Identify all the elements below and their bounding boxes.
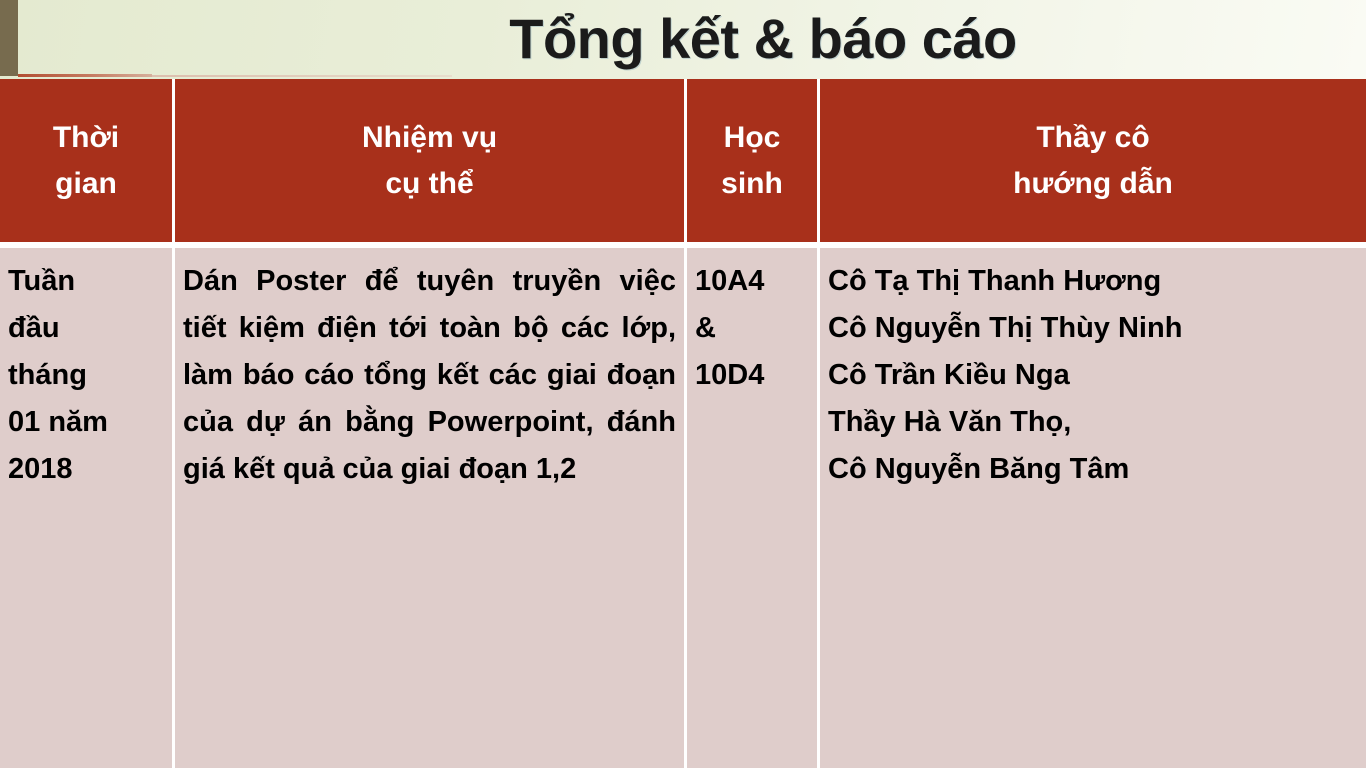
title-band: Tổng kết & báo cáo xyxy=(0,0,1366,79)
column-header-time: Thời gian xyxy=(0,79,175,242)
students-line-3: 10D4 xyxy=(695,352,809,399)
column-header-teachers-line2: hướng dẫn xyxy=(1013,161,1173,207)
teacher-name-5: Cô Nguyễn Băng Tâm xyxy=(828,446,1358,493)
column-header-task: Nhiệm vụ cụ thể xyxy=(175,79,687,242)
column-header-task-line1: Nhiệm vụ xyxy=(362,115,497,161)
teacher-name-1: Cô Tạ Thị Thanh Hương xyxy=(828,258,1358,305)
column-header-task-line2: cụ thể xyxy=(385,161,473,207)
column-header-students: Học sinh xyxy=(687,79,820,242)
column-header-time-line2: gian xyxy=(55,161,117,207)
table-header-row: Thời gian Nhiệm vụ cụ thể Học sinh Thầy … xyxy=(0,79,1366,242)
column-header-teachers: Thầy cô hướng dẫn xyxy=(820,79,1366,242)
time-line-3: tháng xyxy=(8,352,164,399)
time-line-4: 01 năm xyxy=(8,399,164,446)
slide: Tổng kết & báo cáo Thời gian Nhiệm vụ cụ… xyxy=(0,0,1366,768)
table-row: Tuần đầu tháng 01 năm 2018 Dán Poster để… xyxy=(0,242,1366,768)
column-header-students-line2: sinh xyxy=(721,161,783,207)
page-title: Tổng kết & báo cáo xyxy=(0,0,1366,76)
cell-time: Tuần đầu tháng 01 năm 2018 xyxy=(0,242,175,768)
cell-teachers: Cô Tạ Thị Thanh Hương Cô Nguyễn Thị Thùy… xyxy=(820,242,1366,768)
column-header-students-line1: Học xyxy=(724,115,781,161)
teacher-name-4: Thầy Hà Văn Thọ, xyxy=(828,399,1358,446)
time-line-5: 2018 xyxy=(8,446,164,493)
column-header-teachers-line1: Thầy cô xyxy=(1036,115,1149,161)
students-line-1: 10A4 xyxy=(695,258,809,305)
time-line-2: đầu xyxy=(8,305,164,352)
students-line-2: & xyxy=(695,305,809,352)
time-line-1: Tuần xyxy=(8,258,164,305)
schedule-table: Thời gian Nhiệm vụ cụ thể Học sinh Thầy … xyxy=(0,79,1366,768)
column-header-time-line1: Thời xyxy=(53,115,119,161)
cell-task: Dán Poster để tuyên truyền việc tiết kiệ… xyxy=(175,242,687,768)
teacher-name-3: Cô Trần Kiều Nga xyxy=(828,352,1358,399)
teacher-name-2: Cô Nguyễn Thị Thùy Ninh xyxy=(828,305,1358,352)
cell-students: 10A4 & 10D4 xyxy=(687,242,820,768)
